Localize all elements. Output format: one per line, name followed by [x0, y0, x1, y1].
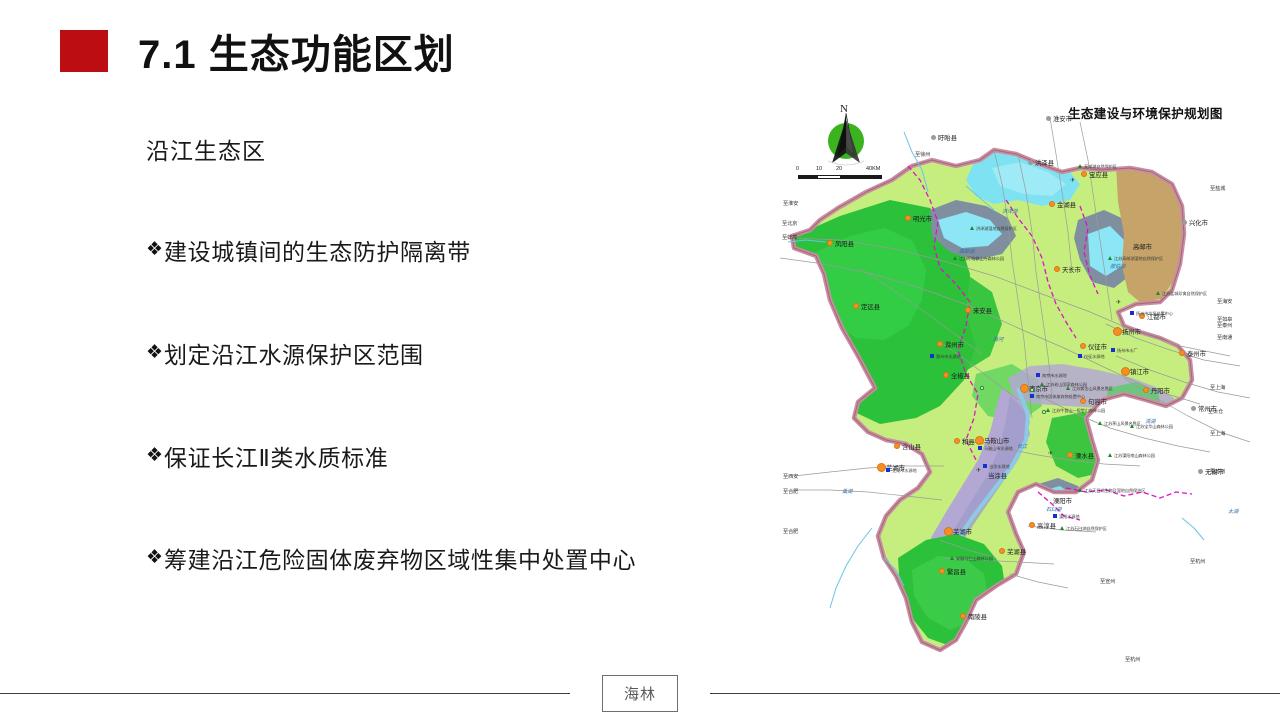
footer-name-label: 海林 [624, 683, 656, 704]
map-facility-marker [1130, 311, 1134, 315]
map-city-label: 句容市 [1088, 397, 1107, 406]
map-city-marker [877, 463, 886, 472]
bullet-label-1: 建设城镇间的生态防护隔离带 [164, 238, 471, 267]
map-city-marker [1020, 384, 1029, 393]
map-park-ring-marker [980, 386, 984, 390]
map-city-label: 洪泽县 [1035, 158, 1054, 167]
map-scenic-area-marker [1098, 421, 1102, 425]
map-city-marker [931, 135, 936, 140]
bullet-label-2: 划定沿江水源保护区范围 [164, 341, 424, 370]
map-exit-label: 至淮安 [783, 200, 798, 207]
map-city-label: 兴化市 [1189, 218, 1208, 227]
map-park-ring-marker [1042, 410, 1046, 414]
map-city-label: 金湖县 [1057, 200, 1076, 209]
compass-rose-icon: N [814, 105, 878, 171]
page-title: 7.1 生态功能区划 [138, 22, 455, 80]
map-city-label: 含山县 [902, 442, 921, 451]
map-city-label: 明光市 [913, 214, 932, 223]
map-city-marker [944, 527, 953, 536]
map-facility-label: 高邮湖自然保护区 [1084, 164, 1117, 170]
map-city-label: 镇江市 [1130, 367, 1149, 376]
scale-bar-graphic [798, 175, 882, 179]
map-water-label: 滁河 [993, 336, 1003, 343]
map-facility-label: 江苏高邮湖湿地自然保护区 [1114, 256, 1163, 262]
map-city-label: 盱眙县 [938, 133, 957, 142]
map-city-label: 淮安市 [1053, 114, 1072, 123]
map-facility-marker [1030, 394, 1034, 398]
compass-north-label: N [840, 103, 848, 115]
map-region-fills [790, 150, 1250, 650]
map-facility-label: 江苏溧阳南山森林公园 [1114, 453, 1155, 459]
map-facility-marker [886, 468, 890, 472]
map-city-marker [1198, 469, 1203, 474]
map-exit-label: 至上海 [1210, 430, 1225, 437]
map-city-marker [1191, 406, 1196, 411]
map-exit-label: 至北京 [782, 220, 797, 227]
map-facility-marker [983, 464, 987, 468]
map-exit-label: 至泰州 [1217, 322, 1232, 329]
map-airport-icon: ✈ [976, 468, 981, 474]
scale-tick-0: 0 [796, 166, 799, 172]
map-scenic-area-marker [1130, 424, 1134, 428]
map-airport-icon: ✈ [1070, 178, 1075, 184]
map-exit-label: 至太仓 [1208, 408, 1223, 415]
map-facility-label: 扬州市垃圾处置中心 [1136, 311, 1173, 317]
map-water-label: 邵伯湖 [1110, 263, 1125, 270]
map-facility-label: 江苏盱眙铁山寺森林公园 [959, 256, 1004, 262]
map-facility-label: 马鞍山市水源地 [984, 446, 1013, 452]
map-facility-label: 江苏天目湖生物及湿地自然保护区 [1084, 488, 1145, 494]
map-water-label: 洪泽湖 [1002, 208, 1017, 215]
map-scale-bar: 0 10 20 40KM [796, 166, 888, 184]
map-city-label: 扬州市 [1122, 327, 1141, 336]
map-scenic-area-marker [1078, 164, 1082, 168]
map-city-marker [1028, 160, 1033, 165]
map-facility-label: 南京市水源地 [1042, 373, 1067, 379]
map-city-label: 宝应县 [1089, 170, 1108, 179]
map-city-label: 芜湖市 [953, 527, 972, 536]
map-city-label: 滁州市 [945, 340, 964, 349]
map-facility-marker [1036, 373, 1040, 377]
map-exit-label: 至合肥 [783, 488, 798, 495]
map-facility-marker [1078, 354, 1082, 358]
map-city-label: 凤阳县 [835, 239, 854, 248]
map-airport-icon: ✈ [1116, 300, 1121, 306]
map-water-label: 石臼湖 [1046, 506, 1061, 513]
map-city-label: 仪征市 [1088, 342, 1107, 351]
map-city-marker [975, 436, 984, 445]
map-city-label: 高邮市 [1133, 242, 1152, 251]
map-exit-label: 至盐城 [1210, 185, 1225, 192]
diamond-bullet-icon: ❖ [146, 341, 163, 365]
map-city-marker [1113, 327, 1122, 336]
map-water-label: 巢湖 [842, 488, 852, 495]
diamond-bullet-icon: ❖ [146, 444, 163, 468]
scale-tick-40km: 40KM [866, 166, 880, 172]
map-city-marker [1046, 116, 1051, 121]
map-facility-marker [978, 446, 982, 450]
footer-name-box: 海林 [602, 675, 678, 712]
map-facility-label: 江苏盐城珍禽自然保护区 [1162, 291, 1207, 297]
slide-title-row: 7.1 生态功能区划 [60, 22, 455, 80]
map-city-label: 全椒县 [951, 371, 970, 380]
map-exit-label: 至宣州 [1100, 578, 1115, 585]
map-facility-label: 洪泽湖湿地自然保护区 [976, 226, 1017, 232]
map-water-label: 长江 [1017, 443, 1027, 450]
map-city-label: 和县 [962, 437, 975, 446]
map-scenic-area-marker [1066, 386, 1070, 390]
map-exit-label: 至海安 [1217, 298, 1232, 305]
map-facility-marker [930, 354, 934, 358]
map-scenic-area-marker [953, 256, 957, 260]
map-city-label: 当涂县 [988, 471, 1007, 480]
bullet-label-3: 保证长江Ⅱ类水质标准 [164, 444, 388, 473]
map-water-label: 太湖 [1228, 508, 1238, 515]
map-scenic-area-marker [950, 556, 954, 560]
map-exit-label: 至西安 [783, 473, 798, 480]
map-facility-label: 扬州市水厂 [1117, 348, 1137, 354]
bullet-item-4: ❖ 筹建沿江危险固体废弃物区域性集中处置中心 [146, 546, 746, 575]
map-facility-label: 芜湖市水源地 [892, 468, 917, 474]
map-scenic-area-marker [1060, 526, 1064, 530]
map-city-label: 溧阳市 [1053, 496, 1072, 505]
scale-tick-10: 10 [816, 166, 822, 172]
map-city-label: 高淳县 [1037, 521, 1056, 530]
map-exit-label: 至合肥 [783, 528, 798, 535]
map-exit-label: 至杭州 [1125, 656, 1140, 663]
map-scenic-area-marker [1078, 488, 1082, 492]
map-city-label: 繁昌县 [947, 567, 966, 576]
map-city-label: 来安县 [973, 306, 992, 315]
map-facility-marker [1053, 514, 1057, 518]
map-scenic-area-marker [970, 226, 974, 230]
map-city-label: 天长市 [1062, 265, 1081, 274]
map-city-marker [1121, 367, 1130, 376]
map-city-label: 泰州市 [1187, 349, 1206, 358]
map-exit-label: 至上海 [1210, 384, 1225, 391]
body-content: 沿江生态区 ❖ 建设城镇间的生态防护隔离带 ❖ 划定沿江水源保护区范围 ❖ 保证… [146, 132, 746, 649]
map-city-label: 南陵县 [968, 612, 987, 621]
map-facility-label: 安徽马仁山森林公园 [956, 556, 993, 562]
map-title: 生态建设与环境保护规划图 [1068, 103, 1223, 122]
map-scenic-area-marker [1108, 256, 1112, 260]
footer-divider-left [0, 693, 570, 694]
map-facility-label: 江苏紫金山风景名胜区 [1072, 386, 1113, 392]
map-airport-icon: ✈ [1048, 451, 1053, 457]
map-city-label: 定远县 [861, 302, 880, 311]
map-facility-label: 滁州市水源地 [936, 354, 961, 360]
map-scenic-area-marker [1108, 453, 1112, 457]
map-figure: 生态建设与环境保护规划图 N 0 10 20 40KM 盱眙县淮安市洪泽县 [780, 88, 1260, 663]
map-facility-label: 江苏石臼湖自然保护区 [1066, 526, 1107, 532]
bullet-label-4: 筹建沿江危险固体废弃物区域性集中处置中心 [164, 546, 636, 575]
map-facility-label: 溧阳水源地 [1059, 514, 1079, 520]
map-facility-label: 仪征水源地 [1084, 354, 1104, 360]
map-facility-label: 江苏宝华山森林公园 [1136, 424, 1173, 430]
map-park-ring-marker [1030, 388, 1034, 392]
title-marker-square [60, 30, 108, 72]
bullet-item-2: ❖ 划定沿江水源保护区范围 [146, 341, 746, 370]
map-exit-label: 至杭州 [1190, 558, 1205, 565]
map-city-label: 溧水县 [1075, 451, 1094, 460]
map-city-marker [1182, 220, 1187, 225]
map-city-label: 芜湖县 [1007, 547, 1026, 556]
map-scenic-area-marker [1046, 408, 1050, 412]
map-exit-label: 至蚌埠 [782, 234, 797, 241]
map-scenic-area-marker [1156, 291, 1160, 295]
footer-divider-right [710, 693, 1280, 694]
bullet-item-3: ❖ 保证长江Ⅱ类水质标准 [146, 444, 746, 473]
map-water-label: 高邮湖 [959, 248, 974, 255]
diamond-bullet-icon: ❖ [146, 238, 163, 262]
map-exit-label: 至南通 [1217, 334, 1232, 341]
map-exit-label: 至苏州 [1210, 468, 1225, 475]
slide-footer: 海林 [0, 693, 1280, 720]
map-facility-marker [1111, 348, 1115, 352]
diamond-bullet-icon: ❖ [146, 546, 163, 570]
map-city-label: 丹阳市 [1151, 386, 1170, 395]
map-city-label: 马鞍山市 [984, 436, 1009, 445]
bullet-item-1: ❖ 建设城镇间的生态防护隔离带 [146, 238, 746, 267]
map-scenic-area-marker [1040, 382, 1044, 386]
scale-tick-20: 20 [836, 166, 842, 172]
map-exit-label: 至徐州 [915, 151, 930, 158]
slide-canvas: 7.1 生态功能区划 沿江生态区 ❖ 建设城镇间的生态防护隔离带 ❖ 划定沿江水… [0, 0, 1280, 720]
section-lead-label: 沿江生态区 [146, 132, 746, 166]
map-facility-label: 南京市固体废弃物处置中心 [1036, 394, 1085, 400]
map-facility-label: 江苏牛首山－祖堂山森林公园 [1052, 408, 1105, 414]
map-facility-label: 当涂水源地 [989, 464, 1009, 470]
